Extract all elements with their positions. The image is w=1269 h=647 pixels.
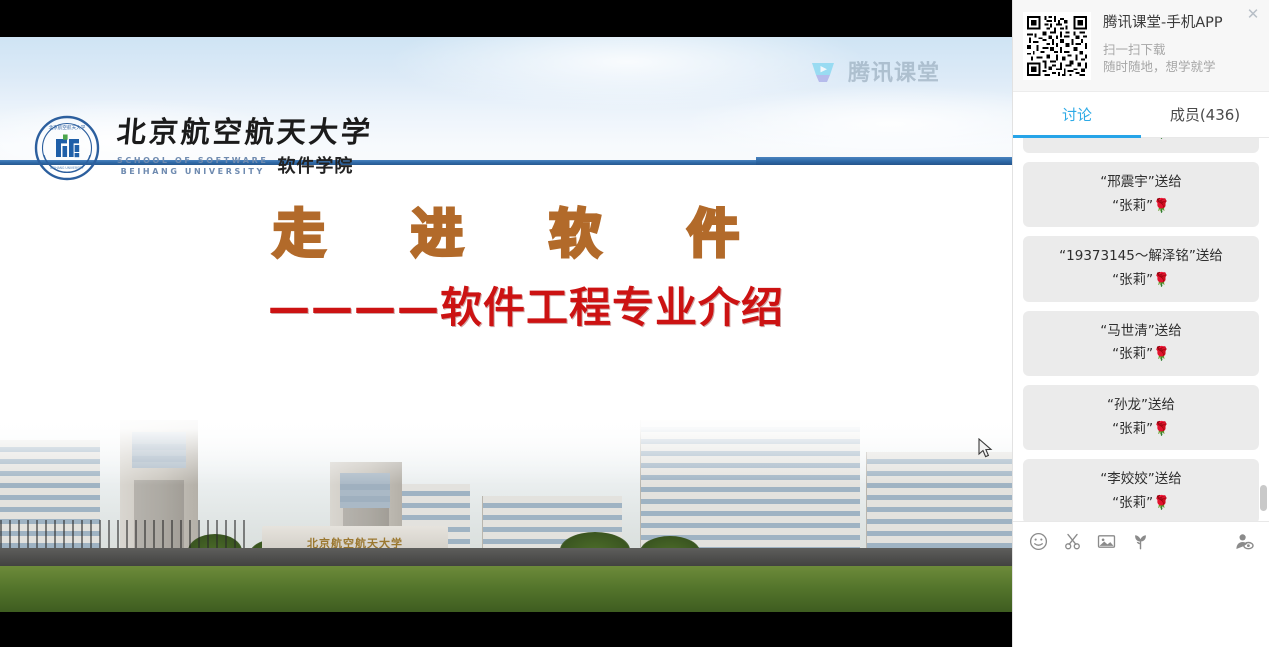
message-line-1: “李姣姣”送给 xyxy=(1033,468,1249,492)
campus-photo: 北京航空航天大学 xyxy=(0,407,1012,612)
message-line-1: “19373145～解泽铭”送给 xyxy=(1033,245,1249,269)
tab-discussion[interactable]: 讨论 xyxy=(1013,92,1141,137)
list-item[interactable]: “李姣姣”送给 “张莉”🌹 xyxy=(1023,459,1259,521)
tab-discussion-label: 讨论 xyxy=(1062,104,1092,125)
buaa-crest-icon: 北京航空航天大学 BEIHANG UNIVERSITY xyxy=(34,115,100,181)
chat-panel: 腾讯课堂-手机APP 扫一扫下载 随时随地，想学就学 ✕ 讨论 成员(436) … xyxy=(1012,0,1269,647)
university-name-cn: 北京航空航天大学 xyxy=(116,118,375,147)
school-en-line2: BEIHANG UNIVERSITY xyxy=(117,166,268,178)
scissors-icon[interactable] xyxy=(1059,529,1085,555)
university-name-text: 北京航空航天大学 SCHOOL OF SOFTWARE BEIHANG UNIV… xyxy=(117,118,373,178)
message-line-2: “张莉”🌹 xyxy=(1033,492,1249,516)
promo-text-block: 腾讯课堂-手机APP 扫一扫下载 随时随地，想学就学 xyxy=(1103,15,1223,75)
scrollbar-thumb[interactable] xyxy=(1260,485,1267,511)
message-list[interactable]: “老师”🌹 “邢震宇”送给 “张莉”🌹 “19373145～解泽铭”送给 “张莉… xyxy=(1013,138,1269,521)
list-item[interactable]: “邢震宇”送给 “张莉”🌹 xyxy=(1023,162,1259,227)
qr-code-icon[interactable] xyxy=(1023,12,1091,80)
school-name-en: SCHOOL OF SOFTWARE BEIHANG UNIVERSITY xyxy=(117,155,268,178)
letterbox-bottom xyxy=(0,612,1012,647)
list-item[interactable]: “孙龙”送给 “张莉”🌹 xyxy=(1023,385,1259,450)
message-line-2: “张莉”🌹 xyxy=(1033,269,1249,293)
message-list-scrollbar[interactable] xyxy=(1260,138,1267,521)
promo-title: 腾讯课堂-手机APP xyxy=(1103,15,1223,32)
chat-toolbar xyxy=(1013,521,1269,561)
message-compose-area[interactable] xyxy=(1013,561,1269,647)
list-item[interactable]: “老师”🌹 xyxy=(1023,138,1259,154)
message-line-1: “马世清”送给 xyxy=(1033,320,1249,344)
slide-title-main: 走 进 软 件 xyxy=(0,192,1012,267)
school-name-cn: 软件学院 xyxy=(277,152,353,178)
message-line-2: “张莉”🌹 xyxy=(1033,343,1249,367)
list-item[interactable]: “19373145～解泽铭”送给 “张莉”🌹 xyxy=(1023,236,1259,301)
tab-members[interactable]: 成员(436) xyxy=(1141,92,1269,137)
tab-members-label: 成员(436) xyxy=(1170,104,1240,125)
campus-grass xyxy=(0,566,1012,612)
image-icon[interactable] xyxy=(1093,529,1119,555)
person-icon[interactable] xyxy=(1231,529,1257,555)
campus-photo-fade xyxy=(0,407,1012,485)
presentation-slide: 北京航空航天大学 BEIHANG UNIVERSITY 北京航空航天大学 SCH… xyxy=(0,37,1012,612)
flower-gift-icon[interactable] xyxy=(1127,529,1153,555)
svg-text:BEIHANG UNIVERSITY: BEIHANG UNIVERSITY xyxy=(50,166,84,170)
university-logo-block: 北京航空航天大学 BEIHANG UNIVERSITY 北京航空航天大学 SCH… xyxy=(34,115,373,181)
promo-line2: 随时随地，想学就学 xyxy=(1103,59,1223,76)
message-line-1: “孙龙”送给 xyxy=(1033,394,1249,418)
school-en-line1: SCHOOL OF SOFTWARE xyxy=(117,155,268,167)
message-line-2: “张莉”🌹 xyxy=(1033,195,1249,219)
message-line-1: “邢震宇”送给 xyxy=(1033,171,1249,195)
chat-tabs: 讨论 成员(436) xyxy=(1013,92,1269,138)
slide-title-sub: ————软件工程专业介绍 xyxy=(0,274,1012,335)
message-line-2: “老师”🌹 xyxy=(1033,138,1249,145)
tencent-classroom-label: 腾讯课堂 xyxy=(848,55,940,87)
emoji-smiley-icon[interactable] xyxy=(1025,529,1051,555)
close-icon[interactable]: ✕ xyxy=(1244,5,1262,23)
tencent-classroom-watermark: 腾讯课堂 xyxy=(808,55,940,87)
svg-text:北京航空航天大学: 北京航空航天大学 xyxy=(49,124,86,131)
list-item[interactable]: “马世清”送给 “张莉”🌹 xyxy=(1023,311,1259,376)
app-root: 北京航空航天大学 BEIHANG UNIVERSITY 北京航空航天大学 SCH… xyxy=(0,0,1269,647)
mouse-pointer-icon xyxy=(978,438,994,465)
mobile-app-promo: 腾讯课堂-手机APP 扫一扫下载 随时随地，想学就学 ✕ xyxy=(1013,0,1269,92)
tencent-classroom-play-icon xyxy=(808,56,838,86)
letterbox-top xyxy=(0,0,1012,37)
slide-header-divider-accent xyxy=(756,157,1012,165)
promo-line1: 扫一扫下载 xyxy=(1103,42,1223,59)
message-line-2: “张莉”🌹 xyxy=(1033,418,1249,442)
video-stage[interactable]: 北京航空航天大学 BEIHANG UNIVERSITY 北京航空航天大学 SCH… xyxy=(0,0,1012,647)
